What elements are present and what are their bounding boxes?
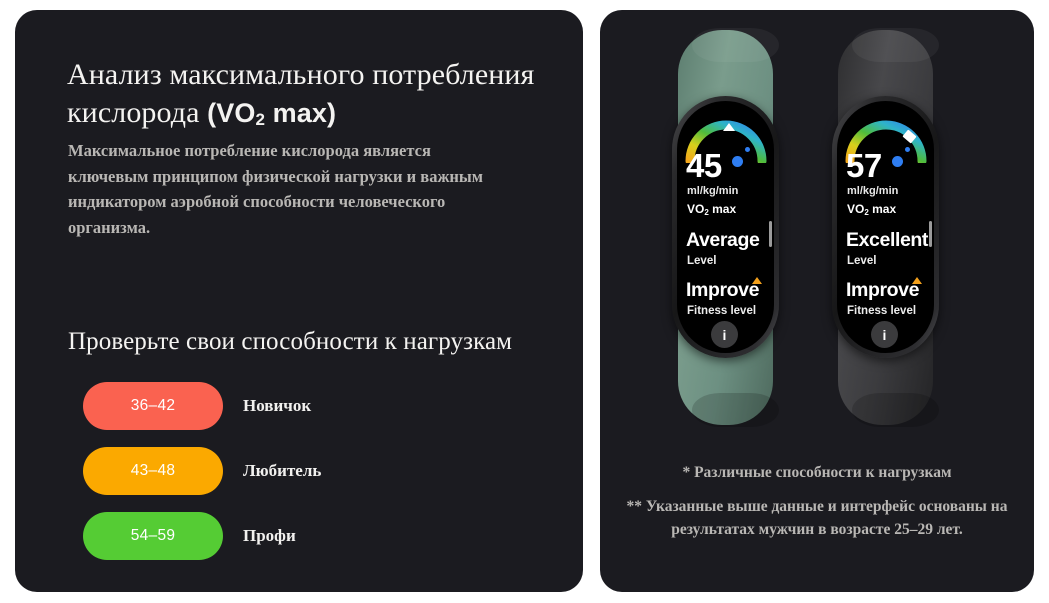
gauge-marker-triangle <box>723 123 735 131</box>
section-subtitle: Проверьте свои способности к нагрузкам <box>68 328 512 356</box>
up-arrow-icon <box>912 277 922 284</box>
vo2-metric-prefix: VO <box>687 202 704 216</box>
improve-caption: Fitness level <box>847 305 916 317</box>
vo2-value: 45 <box>686 149 722 182</box>
improve-value: Improve <box>846 279 919 302</box>
info-glyph: i <box>883 327 887 343</box>
vo2-subscript: 2 <box>255 110 265 129</box>
vo2-metric-prefix: VO <box>847 202 864 216</box>
info-panel: Анализ максимального потребления кислоро… <box>15 10 583 592</box>
level-label-amateur: Любитель <box>243 461 321 481</box>
fitness-level-value: Average <box>686 229 759 252</box>
level-range-badge-amateur: 43–48 <box>83 447 223 495</box>
page-title: Анализ максимального потребления кислоро… <box>67 56 567 139</box>
vo2-metric-suffix: max <box>869 202 896 216</box>
page-title-vo2max: (VO2 max) <box>207 98 336 128</box>
info-icon[interactable]: i <box>871 321 898 348</box>
scrollbar[interactable] <box>769 221 772 247</box>
fitness-level-caption: Level <box>847 255 876 267</box>
level-label-beginner: Новичок <box>243 396 311 416</box>
vo2-prefix: (VO <box>207 98 255 128</box>
watch-case: 45 ml/kg/min VO2 max Average Level Impro… <box>672 96 779 358</box>
fitness-level-value: Excellent <box>846 229 928 252</box>
strap-highlight-top <box>692 28 779 62</box>
vo2-value: 57 <box>846 149 882 182</box>
vo2-unit: ml/kg/min <box>687 185 738 197</box>
intro-paragraph: Максимальное потребление кислорода являе… <box>68 138 488 240</box>
scrollbar[interactable] <box>929 221 932 247</box>
footnote-primary: * Различные способности к нагрузкам <box>612 462 1022 484</box>
blue-dot-large-icon <box>892 156 903 167</box>
vo2-unit: ml/kg/min <box>847 185 898 197</box>
strap-shadow-bottom <box>692 393 779 427</box>
up-arrow-icon <box>752 277 762 284</box>
info-glyph: i <box>723 327 727 343</box>
strap-shadow-bottom <box>852 393 939 427</box>
blue-dot-small-icon <box>745 147 750 152</box>
level-label-pro: Профи <box>243 526 296 546</box>
fitness-level-caption: Level <box>687 255 716 267</box>
improve-caption: Fitness level <box>687 305 756 317</box>
footnote-secondary: ** Указанные выше данные и интерфейс осн… <box>612 495 1022 541</box>
device-gallery: 45 ml/kg/min VO2 max Average Level Impro… <box>610 30 1024 430</box>
watch-screen: 57 ml/kg/min VO2 max Excellent Level Imp… <box>837 101 934 353</box>
level-legend-list: 36–42 Новичок 43–48 Любитель 54–59 Профи <box>83 382 553 577</box>
level-range-badge-beginner: 36–42 <box>83 382 223 430</box>
watch-screen: 45 ml/kg/min VO2 max Average Level Impro… <box>677 101 774 353</box>
strap-highlight-top <box>852 28 939 62</box>
level-range-text: 43–48 <box>131 462 176 480</box>
level-range-text: 54–59 <box>131 527 176 545</box>
info-icon[interactable]: i <box>711 321 738 348</box>
improve-value: Improve <box>686 279 759 302</box>
vo2-metric-label: VO2 max <box>847 202 896 217</box>
blue-dot-small-icon <box>905 147 910 152</box>
smart-band-device-excellent: 57 ml/kg/min VO2 max Excellent Level Imp… <box>828 30 943 425</box>
level-range-badge-pro: 54–59 <box>83 512 223 560</box>
watch-case: 57 ml/kg/min VO2 max Excellent Level Imp… <box>832 96 939 358</box>
blue-dot-large-icon <box>732 156 743 167</box>
level-range-text: 36–42 <box>131 397 176 415</box>
vo2-suffix: max) <box>265 98 336 128</box>
list-item: 36–42 Новичок <box>83 382 553 447</box>
vo2-metric-label: VO2 max <box>687 202 736 217</box>
list-item: 43–48 Любитель <box>83 447 553 512</box>
vo2-metric-suffix: max <box>709 202 736 216</box>
footnotes: * Различные способности к нагрузкам ** У… <box>612 462 1022 541</box>
list-item: 54–59 Профи <box>83 512 553 577</box>
smart-band-device-average: 45 ml/kg/min VO2 max Average Level Impro… <box>668 30 783 425</box>
page-root: Анализ максимального потребления кислоро… <box>0 0 1049 603</box>
